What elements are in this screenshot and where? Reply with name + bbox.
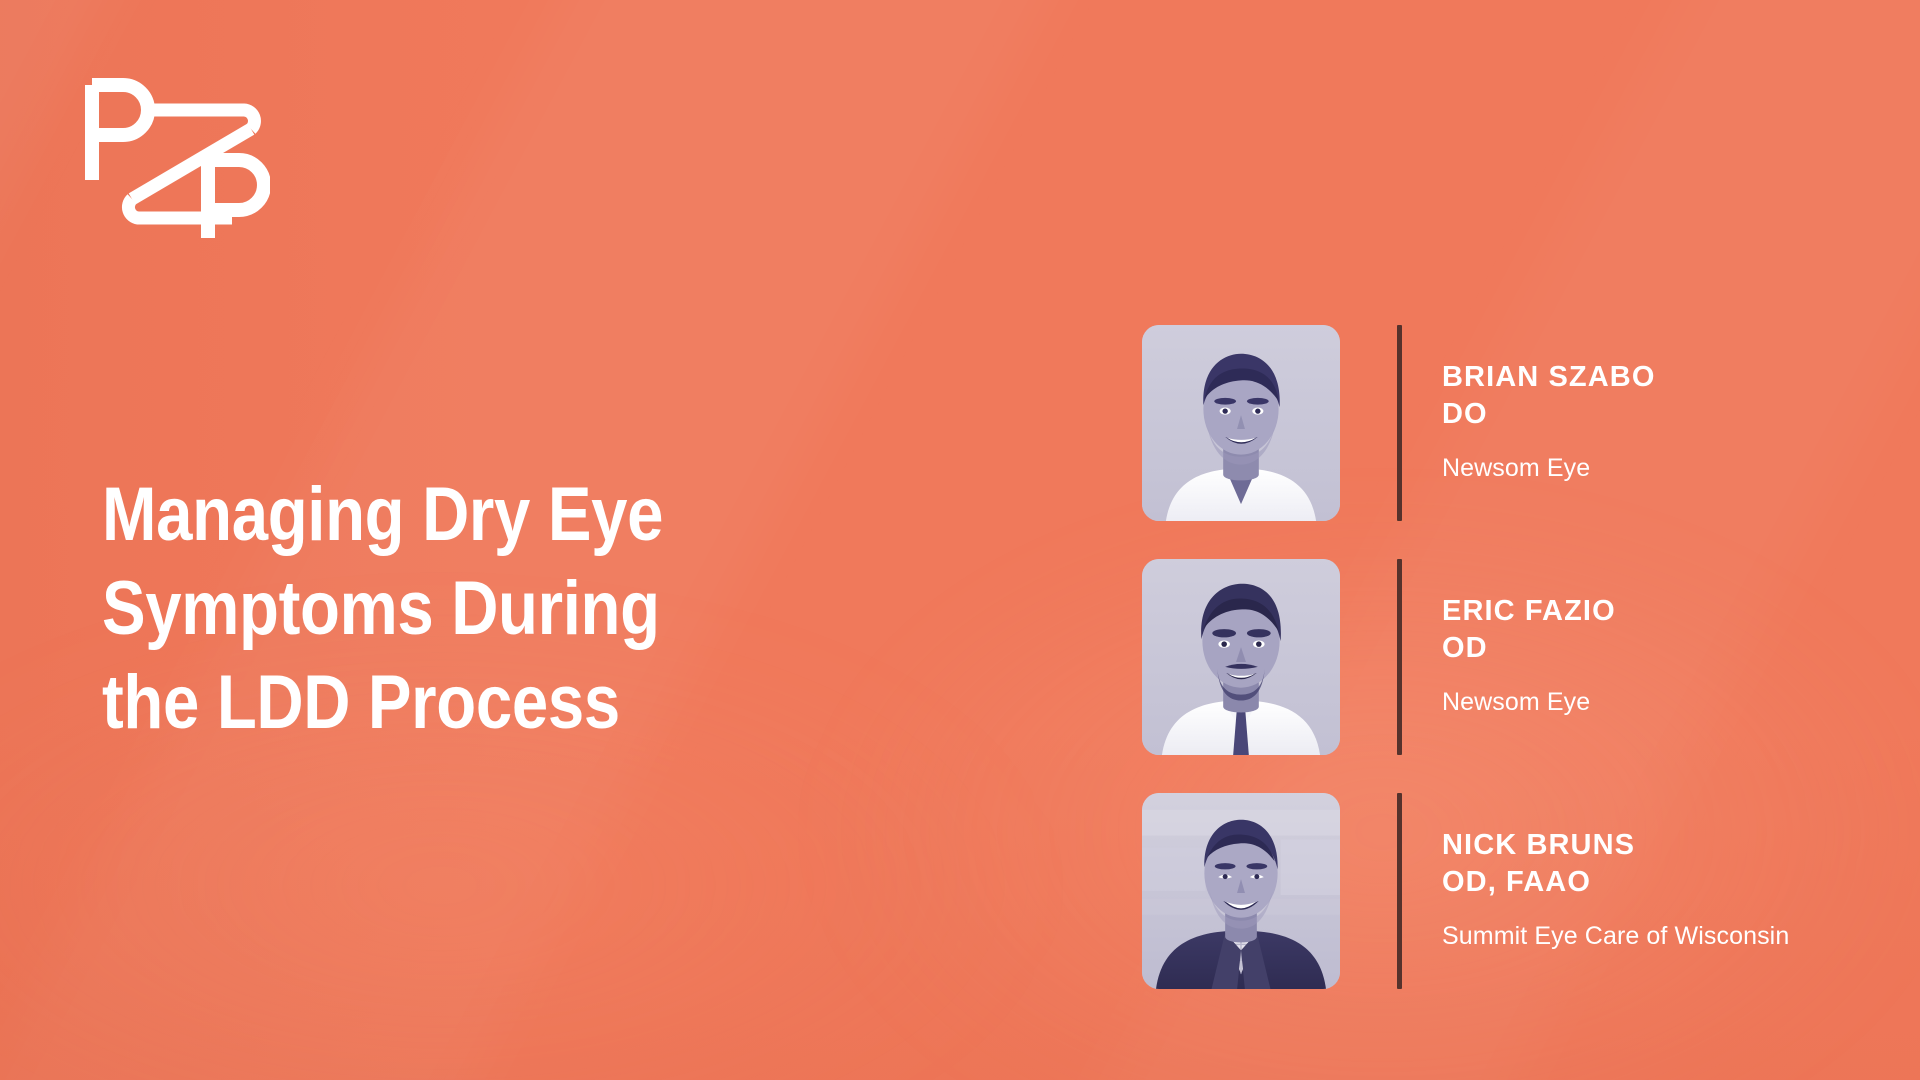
- speaker-name: ERIC FAZIO: [1442, 593, 1616, 630]
- speaker-divider: [1397, 325, 1402, 521]
- headline-line-2: Symptoms During: [102, 562, 807, 656]
- speaker-organization: Newsom Eye: [1442, 686, 1616, 719]
- speaker-credentials: OD, FAAO: [1442, 864, 1789, 901]
- headline-line-3: the LDD Process: [102, 656, 807, 750]
- speaker-card[interactable]: ERIC FAZIO OD Newsom Eye: [1142, 559, 1842, 755]
- speaker-divider: [1397, 793, 1402, 989]
- page-title: Managing Dry Eye Symptoms During the LDD…: [102, 468, 807, 750]
- avatar: [1142, 793, 1340, 989]
- speaker-card[interactable]: BRIAN SZABO DO Newsom Eye: [1142, 325, 1842, 521]
- pzp-logo[interactable]: [80, 78, 270, 238]
- speaker-organization: Summit Eye Care of Wisconsin: [1442, 920, 1789, 953]
- speaker-list: BRIAN SZABO DO Newsom Eye: [1142, 325, 1842, 989]
- headline-line-1: Managing Dry Eye: [102, 468, 807, 562]
- speaker-meta: BRIAN SZABO DO Newsom Eye: [1442, 325, 1656, 521]
- speaker-organization: Newsom Eye: [1442, 452, 1656, 485]
- speaker-meta: NICK BRUNS OD, FAAO Summit Eye Care of W…: [1442, 793, 1789, 989]
- speaker-credentials: DO: [1442, 396, 1656, 433]
- speaker-name: NICK BRUNS: [1442, 827, 1789, 864]
- speaker-meta: ERIC FAZIO OD Newsom Eye: [1442, 559, 1616, 755]
- speaker-credentials: OD: [1442, 630, 1616, 667]
- speaker-card[interactable]: NICK BRUNS OD, FAAO Summit Eye Care of W…: [1142, 793, 1842, 989]
- speaker-name: BRIAN SZABO: [1442, 359, 1656, 396]
- speaker-divider: [1397, 559, 1402, 755]
- avatar: [1142, 325, 1340, 521]
- avatar: [1142, 559, 1340, 755]
